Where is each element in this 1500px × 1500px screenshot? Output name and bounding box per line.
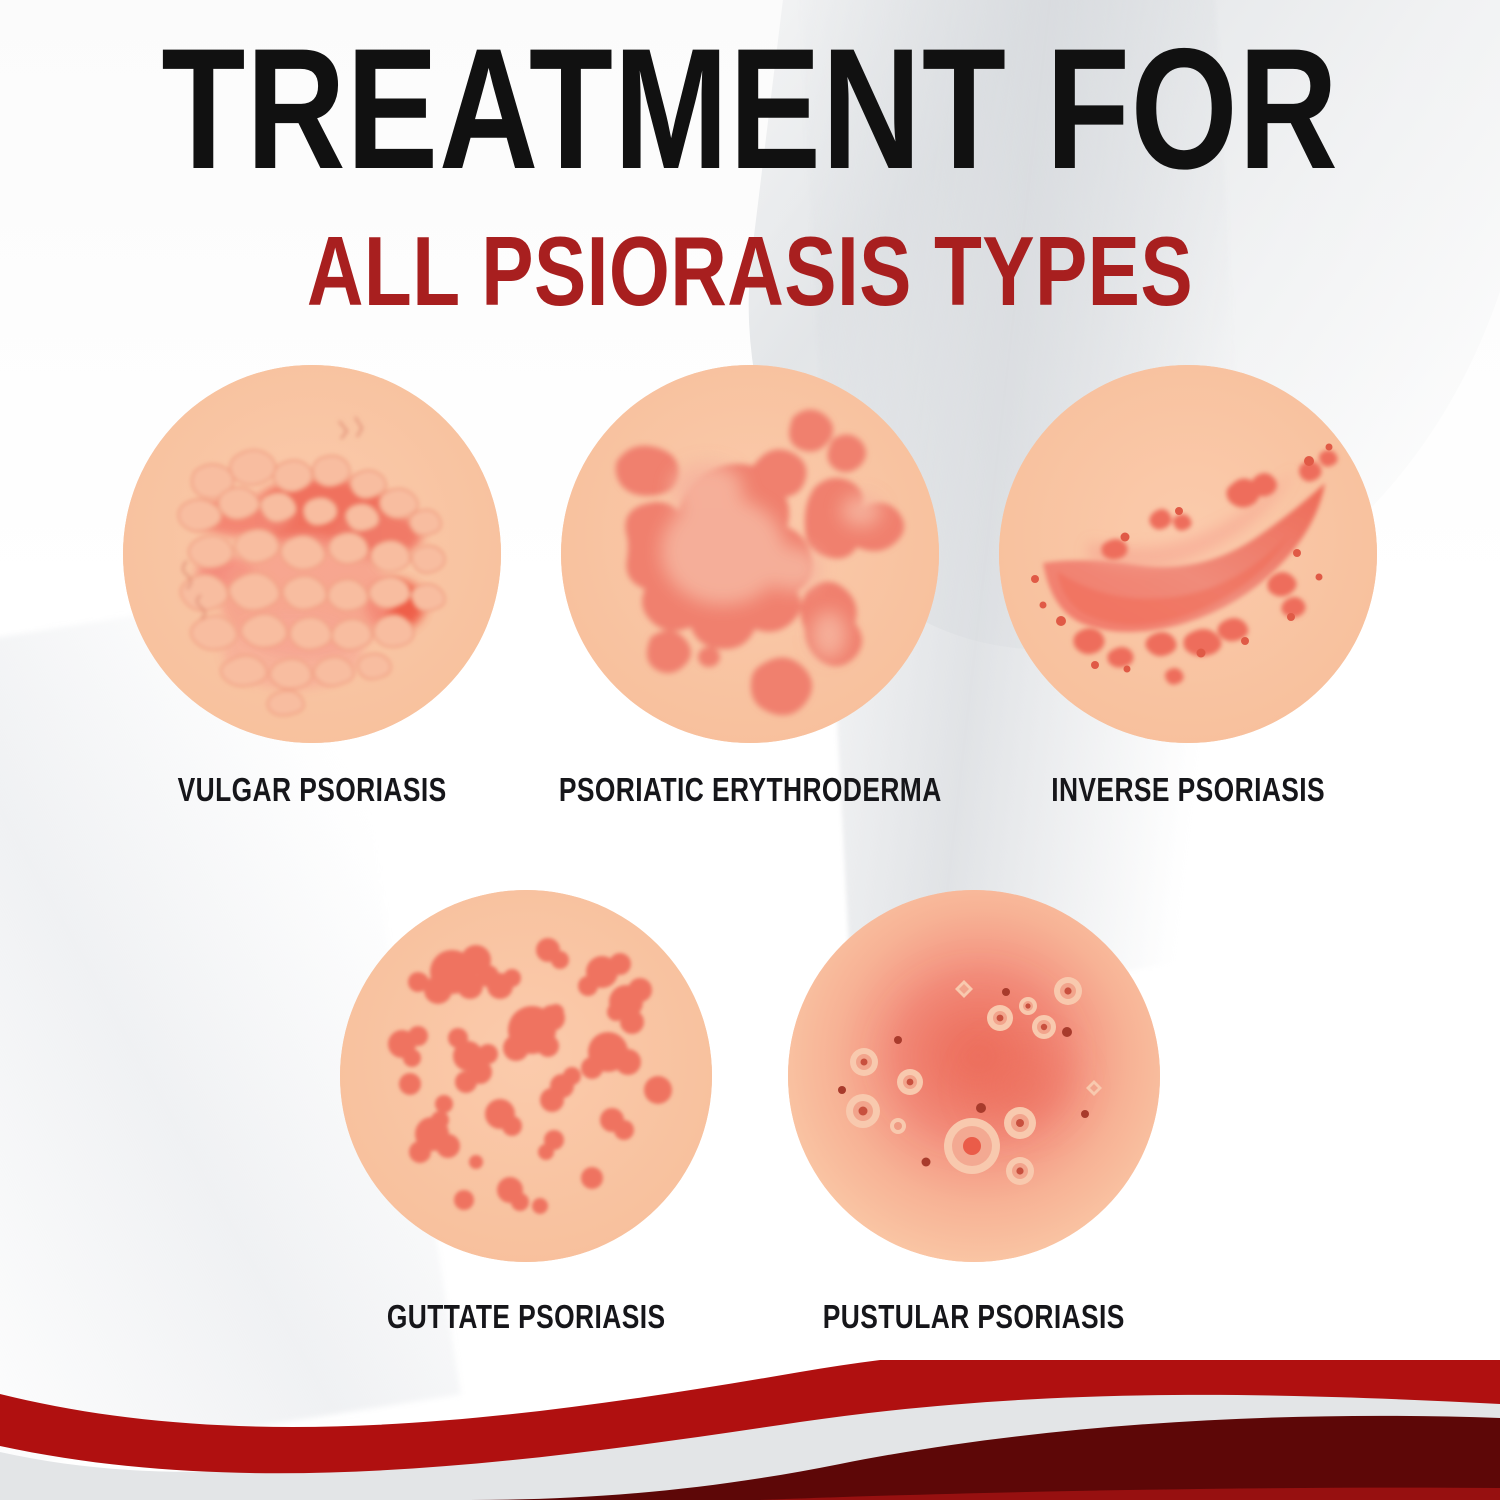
scattered-droplets-icon [340, 890, 712, 1262]
lesion-card-guttate: GUTTATE PSORIASIS [331, 890, 721, 1336]
lesion-card-pustular: PUSTULAR PSORIASIS [779, 890, 1169, 1336]
lesion-label: PSORIATIC ERYTHRODERMA [559, 771, 942, 809]
lesion-label: INVERSE PSORIASIS [1051, 771, 1325, 809]
footer-wave-decoration [0, 1360, 1500, 1500]
lesion-card-inverse: INVERSE PSORIASIS [999, 365, 1377, 809]
headline-block: TREATMENT FOR ALL PSIORASIS TYPES [0, 30, 1500, 320]
lesion-row-bottom: GUTTATE PSORIASIS [0, 890, 1500, 1336]
lesion-card-erythroderma: PSORIATIC ERYTHRODERMA [561, 365, 939, 809]
page-title: TREATMENT FOR [150, 30, 1350, 188]
lesion-label: VULGAR PSORIASIS [178, 771, 447, 809]
lesion-row-top: VULGAR PSORIASIS [0, 365, 1500, 809]
plaque-scales-icon [123, 365, 501, 743]
poster-root: TREATMENT FOR ALL PSIORASIS TYPES [0, 0, 1500, 1500]
skin-fold-crescent-icon [999, 365, 1377, 743]
lesion-label: GUTTATE PSORIASIS [387, 1298, 666, 1336]
lesion-card-vulgar: VULGAR PSORIASIS [123, 365, 501, 809]
page-subtitle: ALL PSIORASIS TYPES [150, 222, 1350, 320]
confluent-blotches-icon [561, 365, 939, 743]
lesion-label: PUSTULAR PSORIASIS [823, 1298, 1125, 1336]
pustule-rings-icon [788, 890, 1160, 1262]
